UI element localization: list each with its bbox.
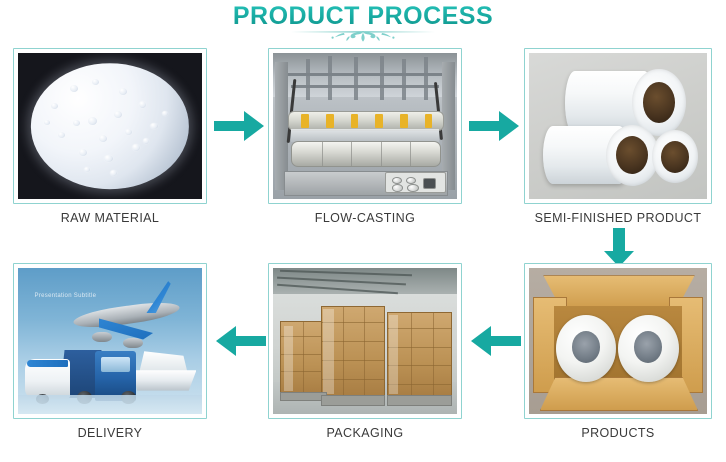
- presentation-subtitle-text: Presentation Subtitle: [35, 293, 97, 299]
- ship-superstructure: [139, 351, 187, 371]
- step-semi-finished-product: SEMI-FINISHED PRODUCT: [524, 48, 712, 233]
- header: PRODUCT PROCESS: [0, 0, 726, 46]
- airplane-engine-right: [123, 338, 143, 348]
- film-roll-front-right-core: [661, 141, 689, 173]
- step-flow-casting: FLOW-CASTING: [268, 48, 462, 233]
- wooden-pallet-right: [387, 395, 452, 406]
- step-label-raw-material: RAW MATERIAL: [13, 211, 207, 225]
- carton-flap-bottom: [540, 377, 699, 411]
- film-jumbo-rolls-photo: [529, 53, 707, 199]
- step-label-delivery: DELIVERY: [13, 426, 207, 440]
- step-raw-material: RAW MATERIAL: [13, 48, 207, 233]
- photo-frame: [524, 48, 712, 204]
- step-label-packaging: PACKAGING: [268, 426, 462, 440]
- photo-frame: Presentation Subtitle: [13, 263, 207, 419]
- transport-montage-photo: Presentation Subtitle: [18, 268, 202, 414]
- photo-frame: [268, 263, 462, 419]
- arrow-raw-to-casting-icon: [214, 108, 266, 144]
- arrow-casting-to-semi-icon: [469, 108, 521, 144]
- water-reflection: [18, 395, 202, 414]
- resin-pellets-photo: [18, 53, 202, 199]
- airplane-engine-left: [92, 332, 112, 342]
- step-packaging: PACKAGING: [268, 263, 462, 448]
- control-panel: [385, 172, 446, 193]
- warehouse-pallets-photo: [273, 268, 457, 414]
- filigree-ornament-icon: [283, 28, 443, 46]
- wooden-pallet-left: [280, 392, 326, 401]
- truck-windshield: [101, 357, 130, 372]
- photo-frame: [268, 48, 462, 204]
- boxed-rolls-photo: [529, 268, 707, 414]
- arrow-packaging-to-delivery-icon: [214, 323, 266, 359]
- ship-hull: [132, 370, 196, 390]
- step-label-products: PRODUCTS: [524, 426, 712, 440]
- train-stripe: [27, 360, 67, 367]
- photo-frame: [13, 48, 207, 204]
- main-roller: [291, 141, 440, 168]
- film-roll-back-core: [643, 82, 675, 123]
- casting-machine-photo: [273, 53, 457, 199]
- photo-frame: [524, 263, 712, 419]
- wooden-pallet-center: [321, 395, 386, 406]
- step-delivery: Presentation Subtitle DELIVERY: [13, 263, 207, 448]
- step-products: PRODUCTS: [524, 263, 712, 448]
- arrow-semi-to-products-icon: [602, 228, 636, 268]
- product-roll-left-core: [572, 331, 600, 363]
- page-title: PRODUCT PROCESS: [0, 2, 726, 31]
- arrow-products-to-packaging-icon: [469, 323, 521, 359]
- step-label-semi-finished-product: SEMI-FINISHED PRODUCT: [524, 211, 712, 225]
- step-label-flow-casting: FLOW-CASTING: [268, 211, 462, 225]
